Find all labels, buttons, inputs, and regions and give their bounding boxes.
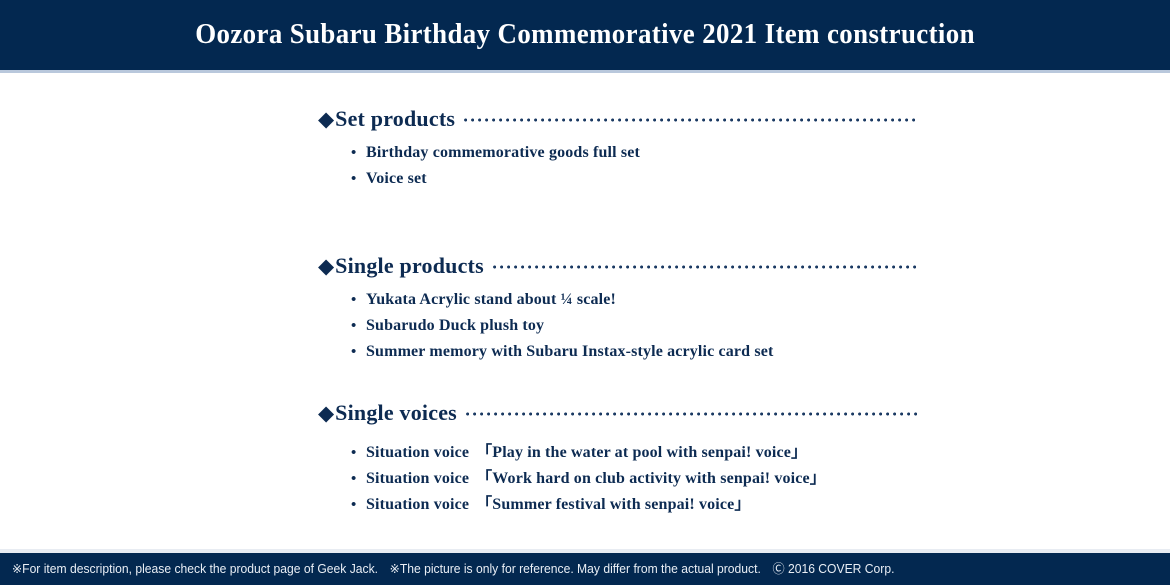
section-title: Set products [335, 106, 455, 132]
list-item-label: Summer memory with Subaru Instax-style a… [366, 343, 773, 361]
list-item-label: Birthday commemorative goods full set [366, 144, 640, 162]
list-item-label: Voice set [366, 170, 427, 188]
page-title: Oozora Subaru Birthday Commemorative 202… [195, 21, 975, 49]
voice-type-label: Situation voice [366, 470, 469, 488]
section-single-products: ◆ Single products • Yukata Acrylic stand… [318, 253, 918, 369]
bullet-icon: • [351, 172, 366, 187]
list-item: • Yukata Acrylic stand about ¼ scale! [318, 291, 918, 317]
section-title: Single voices [335, 400, 457, 426]
footer-note-picture-reference: ※The picture is only for reference. May … [390, 562, 761, 576]
page-footer: ※For item description, please check the … [0, 553, 1170, 585]
footer-notes: ※For item description, please check the … [12, 563, 894, 576]
dotted-leader [466, 403, 918, 423]
bullet-icon: • [351, 345, 366, 360]
list-item: • Summer memory with Subaru Instax-style… [318, 343, 918, 369]
list-item: • Subarudo Duck plush toy [318, 317, 918, 343]
voice-title: 「Summer festival with senpai! voice」 [476, 490, 750, 514]
set-products-list: • Birthday commemorative goods full set … [318, 144, 918, 196]
footer-note-item-description: ※For item description, please check the … [12, 562, 378, 576]
voice-title: 「Play in the water at pool with senpai! … [476, 438, 807, 462]
diamond-icon: ◆ [318, 109, 334, 130]
section-single-voices: ◆ Single voices • Situation voice 「Play … [318, 400, 918, 516]
bullet-icon: • [351, 472, 366, 487]
content-area: ◆ Set products • Birthday commemorative … [0, 73, 1170, 552]
list-item: • Situation voice 「Summer festival with … [318, 490, 918, 516]
dotted-leader [493, 256, 918, 276]
voice-type-label: Situation voice [366, 496, 469, 514]
bullet-icon: • [351, 446, 366, 461]
section-heading: ◆ Single voices [318, 400, 918, 426]
section-heading: ◆ Single products [318, 253, 918, 279]
list-item: • Voice set [318, 170, 918, 196]
list-item: • Situation voice 「Play in the water at … [318, 438, 918, 464]
voice-title: 「Work hard on club activity with senpai!… [476, 464, 826, 488]
single-products-list: • Yukata Acrylic stand about ¼ scale! • … [318, 291, 918, 369]
list-item: • Birthday commemorative goods full set [318, 144, 918, 170]
list-item-label: Yukata Acrylic stand about ¼ scale! [366, 291, 616, 309]
section-set-products: ◆ Set products • Birthday commemorative … [318, 106, 918, 196]
section-title: Single products [335, 253, 484, 279]
bullet-icon: • [351, 146, 366, 161]
list-item: • Situation voice 「Work hard on club act… [318, 464, 918, 490]
dotted-leader [464, 109, 918, 129]
page-header: Oozora Subaru Birthday Commemorative 202… [0, 0, 1170, 70]
single-voices-list: • Situation voice 「Play in the water at … [318, 438, 918, 516]
bullet-icon: • [351, 293, 366, 308]
section-heading: ◆ Set products [318, 106, 918, 132]
bullet-icon: • [351, 319, 366, 334]
footer-copyright: Ⓒ 2016 COVER Corp. [772, 562, 894, 576]
diamond-icon: ◆ [318, 256, 334, 277]
diamond-icon: ◆ [318, 403, 334, 424]
bullet-icon: • [351, 498, 366, 513]
list-item-label: Subarudo Duck plush toy [366, 317, 544, 335]
voice-type-label: Situation voice [366, 444, 469, 462]
